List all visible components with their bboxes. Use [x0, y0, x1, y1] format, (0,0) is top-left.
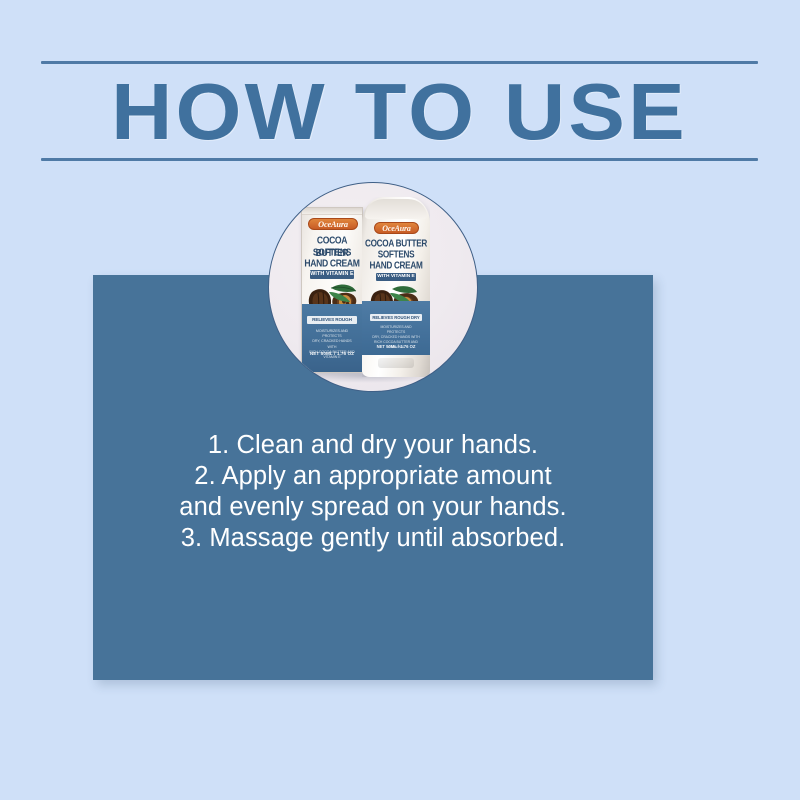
product-image-circle: OceAura COCOA BUTTER SOFTENS HAND CREAM …	[268, 182, 478, 392]
tube-crimp	[378, 358, 414, 368]
tube-net-weight: NET 50ML / 1.76 OZ	[362, 344, 430, 349]
tube-name-line-1: COCOA BUTTER	[362, 238, 430, 249]
carton-vitamin-claim: WITH VITAMIN E	[310, 270, 354, 279]
carton-net-weight: NET 50ML / 1.76 OZ	[302, 351, 362, 356]
tube-benefit-claim: RELIEVES ROUGH DRY SKIN	[370, 314, 422, 321]
tube-shoulder	[365, 199, 427, 219]
title-rule-top	[41, 61, 758, 64]
title-rule-bottom	[41, 158, 758, 161]
carton-name-line-3: HAND CREAM	[302, 257, 362, 269]
instructions-steps: 1. Clean and dry your hands. 2. Apply an…	[93, 430, 653, 554]
carton-benefit-claim: RELIEVES ROUGH DRY SKIN	[307, 316, 357, 324]
product-carton: OceAura COCOA BUTTER SOFTENS HAND CREAM …	[301, 207, 363, 373]
carton-top-strip	[302, 208, 362, 215]
header-block: HOW TO USE	[41, 61, 758, 161]
product-tube: OceAura COCOA BUTTER SOFTENS HAND CREAM …	[362, 197, 430, 377]
tube-name-line-3: HAND CREAM	[362, 260, 430, 271]
page-title: HOW TO USE	[19, 66, 779, 158]
tube-vitamin-claim: WITH VITAMIN E	[376, 273, 416, 281]
how-to-use-poster: HOW TO USE 1. Clean and dry your hands. …	[0, 0, 800, 800]
tube-name-line-2: SOFTENS	[362, 249, 430, 260]
carton-brand-badge: OceAura	[308, 218, 358, 230]
tube-brand-badge: OceAura	[374, 222, 419, 234]
